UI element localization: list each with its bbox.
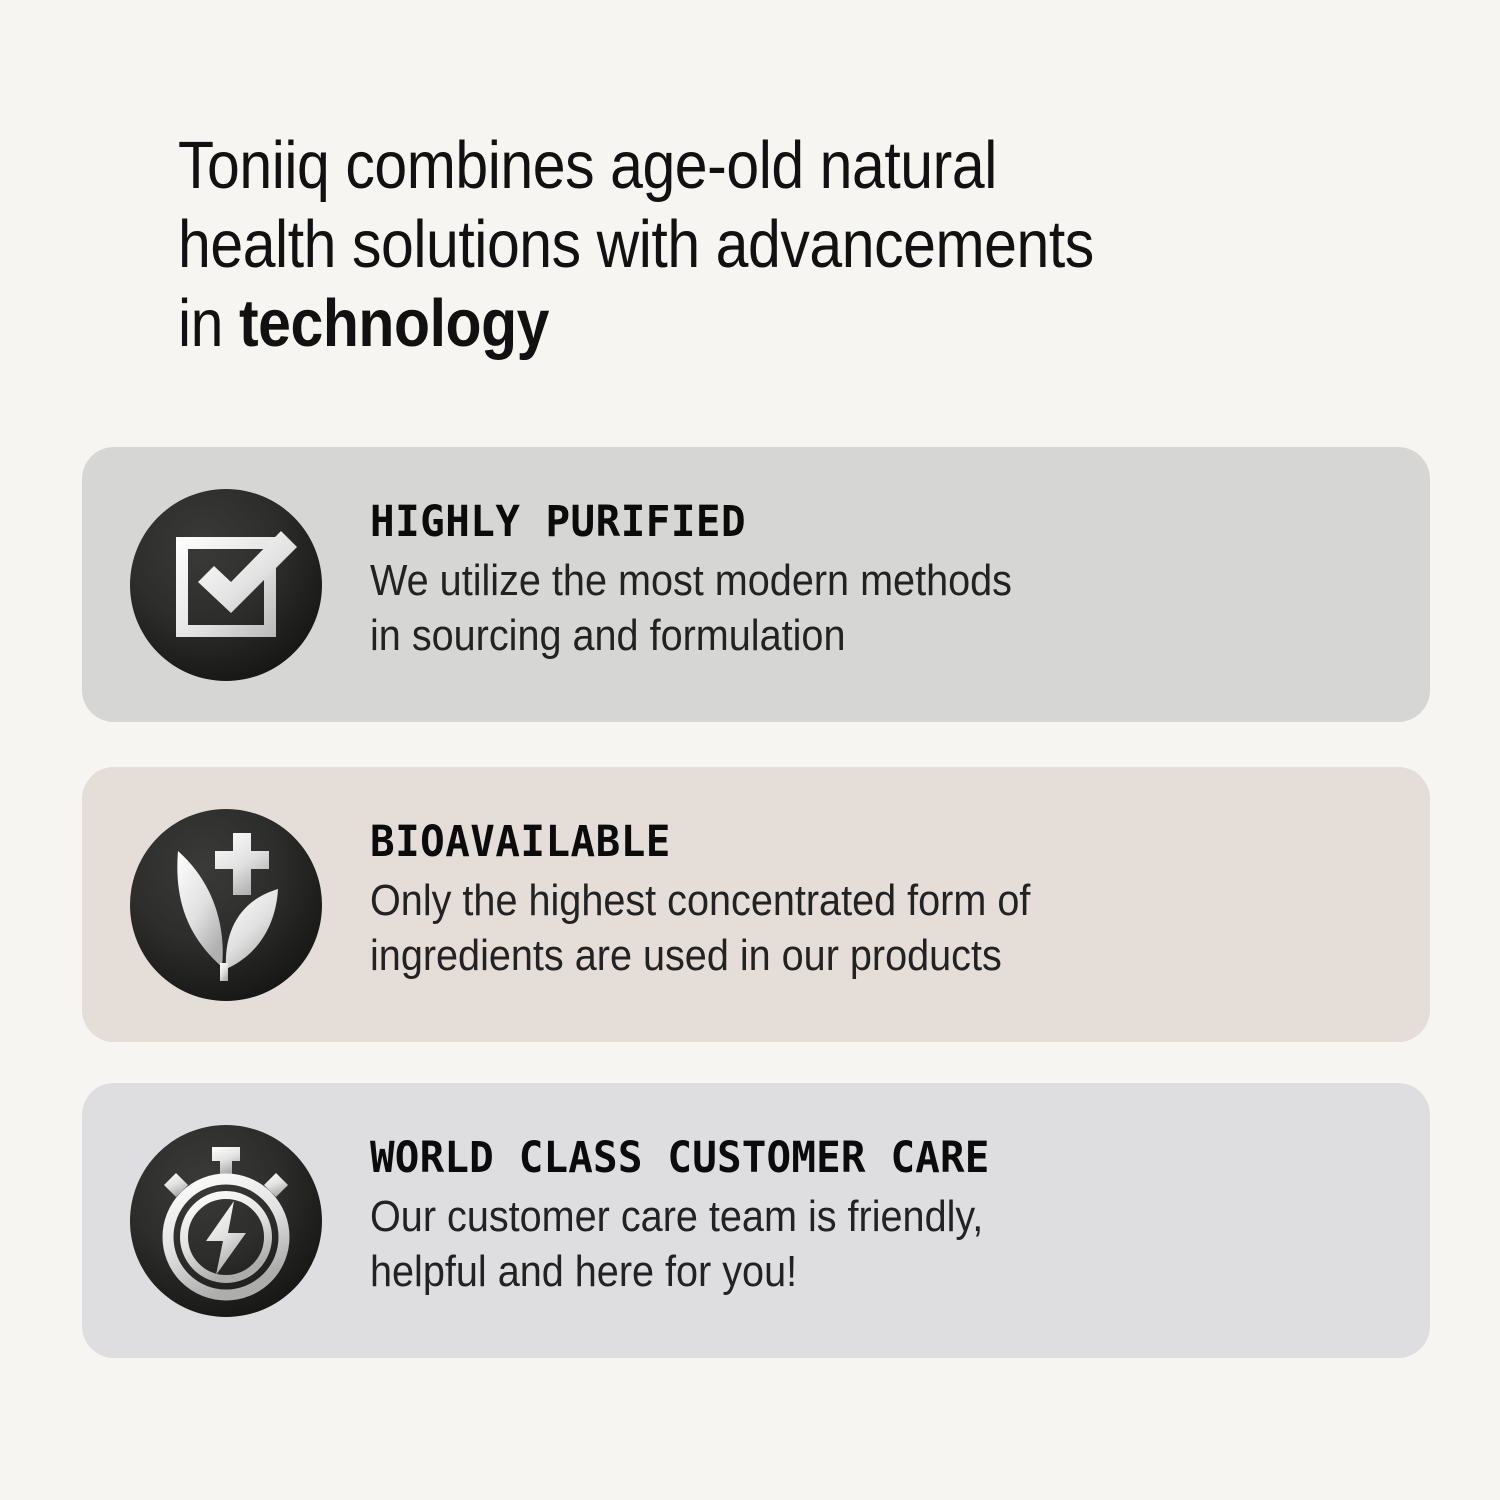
checked-checkbox-icon: [130, 489, 322, 681]
promo-panel: Toniiq combines age-old natural health s…: [0, 0, 1500, 1500]
feature-card-bioavailable: BIOAVAILABLE Only the highest concentrat…: [82, 767, 1430, 1042]
feature-card-text: WORLD CLASS CUSTOMER CARE Our customer c…: [370, 1133, 1370, 1299]
stopwatch-bolt-icon: [130, 1125, 322, 1317]
headline-line-3-prefix: in: [178, 286, 239, 361]
feature-card-body: Our customer care team is friendly, help…: [370, 1189, 1270, 1299]
feature-card-text: BIOAVAILABLE Only the highest concentrat…: [370, 817, 1370, 983]
feature-card-highly-purified: HIGHLY PURIFIED We utilize the most mode…: [82, 447, 1430, 722]
feature-card-title: HIGHLY PURIFIED: [370, 497, 1320, 547]
feature-card-body: Only the highest concentrated form of in…: [370, 873, 1270, 983]
feature-card-title: WORLD CLASS CUSTOMER CARE: [370, 1133, 1320, 1183]
headline-line-1: Toniiq combines age-old natural: [178, 128, 997, 203]
headline-emphasis: technology: [239, 286, 549, 361]
feature-card-body: We utilize the most modern methods in so…: [370, 553, 1270, 663]
feature-card-customer-care: WORLD CLASS CUSTOMER CARE Our customer c…: [82, 1083, 1430, 1358]
page-title: Toniiq combines age-old natural health s…: [178, 126, 1111, 363]
headline-line-2: health solutions with advancements: [178, 207, 1094, 282]
leaf-plus-icon: [130, 809, 322, 1001]
feature-card-title: BIOAVAILABLE: [370, 817, 1320, 867]
feature-card-text: HIGHLY PURIFIED We utilize the most mode…: [370, 497, 1370, 663]
